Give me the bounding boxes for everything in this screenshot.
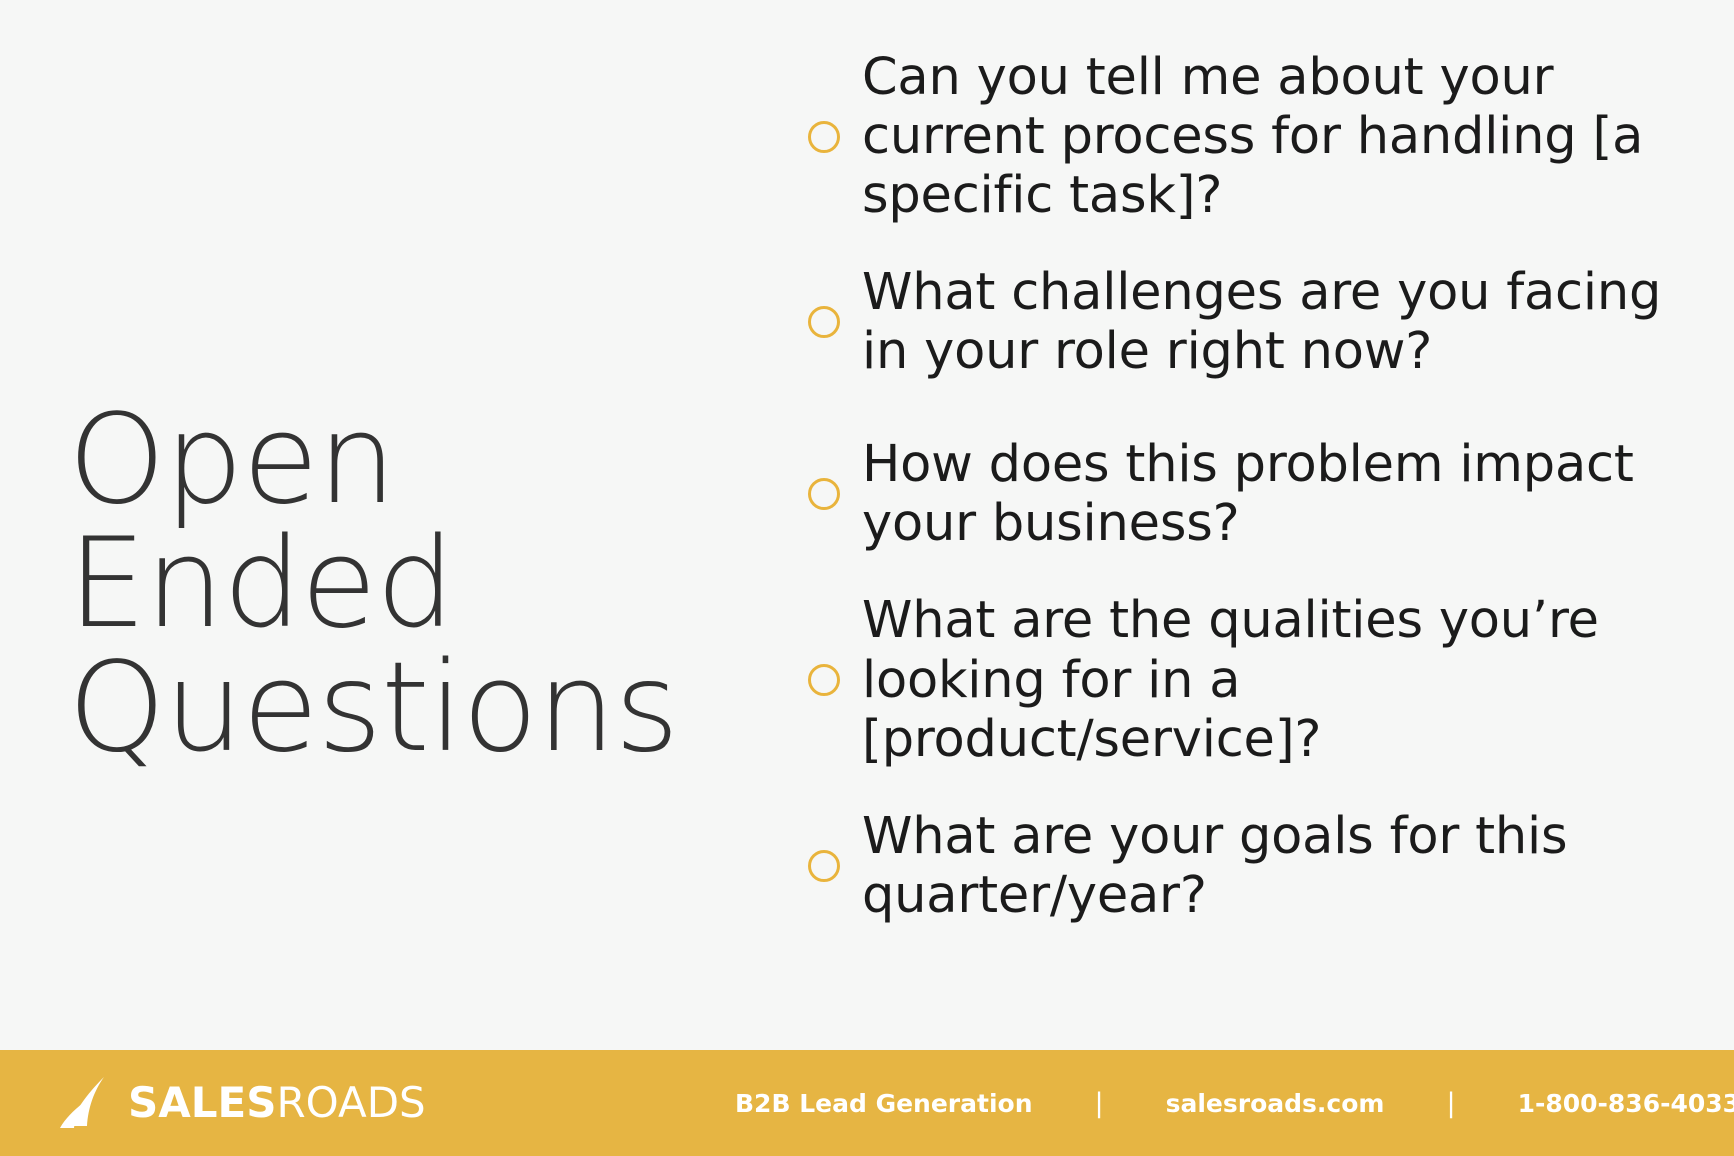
brand-name-bold: SALES <box>128 1078 276 1127</box>
list-item: What are your goals for this quarter/yea… <box>808 791 1688 941</box>
question-list: Can you tell me about your current proce… <box>808 48 1688 941</box>
circle-bullet-icon <box>808 664 840 696</box>
title-block: Open Ended Questions <box>68 398 708 770</box>
circle-bullet-icon <box>808 478 840 510</box>
question-text: What are your goals for this quarter/yea… <box>862 807 1688 925</box>
question-text: How does this problem impact your busine… <box>862 435 1688 553</box>
slide: Open Ended Questions Can you tell me abo… <box>0 0 1734 1156</box>
circle-bullet-icon <box>808 306 840 338</box>
list-item: What challenges are you facing in your r… <box>808 247 1688 397</box>
list-item: How does this problem impact your busine… <box>808 419 1688 569</box>
brand-name-light: ROADS <box>276 1078 425 1127</box>
footer-bar: SALESROADS B2B Lead Generation | salesro… <box>0 1050 1734 1156</box>
brand-wordmark: SALESROADS <box>128 1082 426 1124</box>
question-text: What challenges are you facing in your r… <box>862 263 1688 381</box>
footer-tagline: B2B Lead Generation <box>735 1089 1033 1118</box>
page-title: Open Ended Questions <box>68 398 708 770</box>
question-text: What are the qualities you’re looking fo… <box>862 591 1688 768</box>
sail-logo-icon <box>60 1077 116 1129</box>
circle-bullet-icon <box>808 850 840 882</box>
footer-separator: | <box>1384 1088 1517 1119</box>
circle-bullet-icon <box>808 121 840 153</box>
footer-separator: | <box>1033 1088 1166 1119</box>
list-item: Can you tell me about your current proce… <box>808 48 1688 225</box>
footer-website[interactable]: salesroads.com <box>1166 1089 1385 1118</box>
footer-info: B2B Lead Generation | salesroads.com | 1… <box>735 1050 1734 1156</box>
question-text: Can you tell me about your current proce… <box>862 48 1688 225</box>
footer-phone[interactable]: 1-800-836-4033 <box>1518 1089 1734 1118</box>
list-item: What are the qualities you’re looking fo… <box>808 591 1688 768</box>
brand-logo: SALESROADS <box>60 1077 426 1129</box>
